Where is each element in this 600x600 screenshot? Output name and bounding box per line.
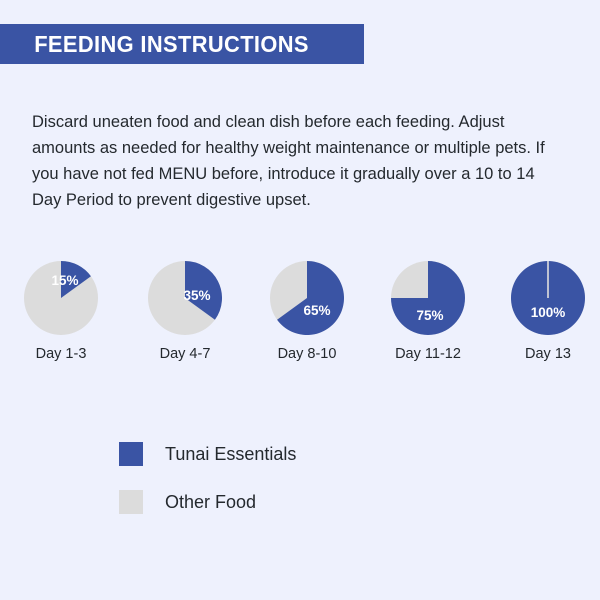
- pie-svg: [270, 261, 344, 335]
- pie-svg: [391, 261, 465, 335]
- feeding-transition-pie-chart-row: 15% Day 1-3 35% Day 4-7 65% Day 8-10: [0, 250, 600, 380]
- pie-chart-day-4-7: 35%: [148, 261, 222, 335]
- legend-color-swatch-icon: [119, 442, 143, 466]
- pie-day-label: Day 1-3: [6, 346, 116, 362]
- pie-chart-group-day-4-7: 35% Day 4-7: [130, 250, 240, 362]
- pie-svg: [511, 261, 585, 335]
- legend-item-tunai-essentials: Tunai Essentials: [119, 430, 296, 478]
- legend-item-other-food: Other Food: [119, 478, 296, 526]
- pie-day-label: Day 4-7: [130, 346, 240, 362]
- pie-chart-day-1-3: 15%: [24, 261, 98, 335]
- pie-chart-day-11-12: 75%: [391, 261, 465, 335]
- pie-day-label: Day 13: [493, 346, 600, 362]
- pie-chart-day-8-10: 65%: [270, 261, 344, 335]
- chart-legend: Tunai Essentials Other Food: [119, 430, 296, 526]
- pie-chart-group-day-13: 100% Day 13: [493, 250, 600, 362]
- pie-day-label: Day 11-12: [373, 346, 483, 362]
- pie-day-label: Day 8-10: [252, 346, 362, 362]
- legend-color-swatch-icon: [119, 490, 143, 514]
- pie-chart-group-day-8-10: 65% Day 8-10: [252, 250, 362, 362]
- legend-item-label: Tunai Essentials: [165, 444, 296, 465]
- pie-chart-day-13: 100%: [511, 261, 585, 335]
- feeding-instructions-paragraph: Discard uneaten food and clean dish befo…: [32, 109, 566, 213]
- legend-item-label: Other Food: [165, 492, 256, 513]
- pie-chart-group-day-11-12: 75% Day 11-12: [373, 250, 483, 362]
- pie-svg: [24, 261, 98, 335]
- header-banner: FEEDING INSTRUCTIONS: [0, 24, 364, 64]
- page-title: FEEDING INSTRUCTIONS: [0, 31, 309, 58]
- pie-chart-group-day-1-3: 15% Day 1-3: [6, 250, 116, 362]
- pie-svg: [148, 261, 222, 335]
